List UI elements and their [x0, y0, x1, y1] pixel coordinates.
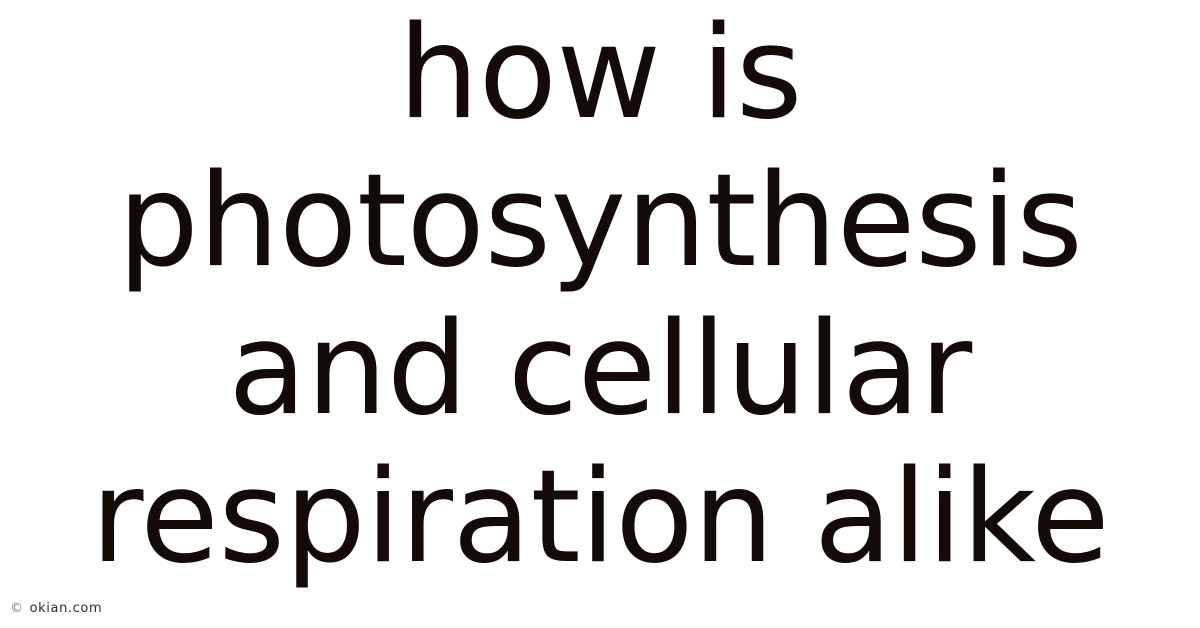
headline-line-3: and cellular: [20, 296, 1180, 444]
headline-line-4: respiration alike: [20, 444, 1180, 592]
page-canvas: how is photosynthesis and cellular respi…: [0, 0, 1200, 628]
copyright-site-label: okian.com: [30, 601, 103, 616]
copyright-credit: © okian.com: [10, 601, 102, 616]
headline-line-2: photosynthesis: [20, 148, 1180, 296]
page-title: how is photosynthesis and cellular respi…: [20, 0, 1180, 592]
headline-container: how is photosynthesis and cellular respi…: [0, 0, 1200, 588]
headline-line-1: how is: [20, 0, 1180, 148]
copyright-icon: ©: [10, 601, 24, 616]
